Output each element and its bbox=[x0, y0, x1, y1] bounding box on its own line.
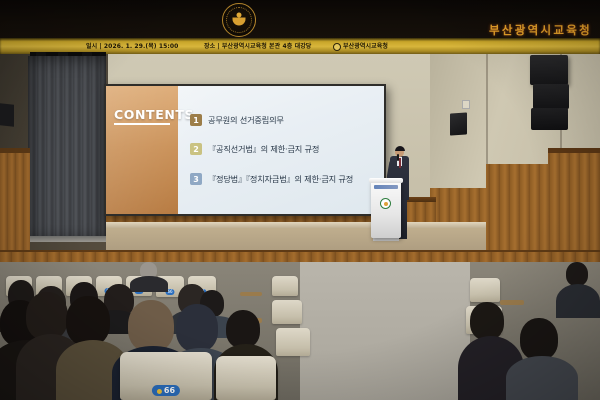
foreground-seat bbox=[216, 356, 276, 400]
projected-slide: CONTENTS 1 공무원의 선거중립의무 2 『공직선거법』의 제한·금지 … bbox=[106, 86, 384, 214]
audience-member bbox=[176, 304, 218, 352]
slide-item-2-number: 2 bbox=[190, 143, 202, 155]
slide-item-3-number: 3 bbox=[190, 173, 202, 185]
foreground-seat-number-tag: 66 bbox=[152, 385, 180, 396]
audience-member bbox=[520, 318, 558, 360]
lectern-logo-icon bbox=[380, 198, 391, 209]
foreground-seat-number: 66 bbox=[164, 386, 175, 395]
presenter-hair bbox=[395, 146, 405, 151]
audience-member bbox=[470, 302, 504, 340]
wall-outlet bbox=[462, 100, 470, 109]
slide-item-2: 2 『공직선거법』의 제한·금지 규정 bbox=[190, 143, 319, 155]
line-array-speaker-mid bbox=[533, 84, 569, 109]
slide-item-3-text: 『정당법』『정치자금법』의 제한·금지 규정 bbox=[208, 173, 353, 185]
audience-member bbox=[26, 292, 68, 340]
seat bbox=[272, 276, 298, 296]
stage-curtain-hem bbox=[28, 236, 106, 242]
slide-sidebar: CONTENTS bbox=[106, 86, 178, 214]
wall-monitor-speaker bbox=[450, 112, 467, 135]
audience-member bbox=[566, 262, 588, 286]
slide-item-1: 1 공무원의 선거중립의무 bbox=[190, 114, 284, 126]
slide-title-underline bbox=[114, 123, 170, 125]
audience-member bbox=[506, 356, 578, 400]
auditorium-photo: 부산광역시교육청 일시 | 2026. 1. 29.(목) 15:00 장소 |… bbox=[0, 0, 600, 400]
seat bbox=[272, 300, 302, 324]
lectern-nameplate bbox=[374, 185, 398, 189]
slide-item-2-text: 『공직선거법』의 제한·금지 규정 bbox=[208, 143, 319, 155]
left-wood-trim bbox=[0, 148, 30, 153]
audience-member bbox=[556, 284, 600, 318]
audience-member bbox=[130, 276, 168, 292]
handheld-microphone-icon bbox=[397, 154, 399, 161]
banner-place-text: 장소 | 부산광역시교육청 본관 4층 대강당 bbox=[204, 41, 311, 50]
left-wall-speaker-icon bbox=[0, 103, 14, 126]
foreground-seat: 66 bbox=[120, 352, 212, 400]
banner-date-text: 일시 | 2026. 1. 29.(목) 15:00 bbox=[86, 41, 178, 50]
stage-curtain bbox=[28, 56, 106, 242]
center-aisle bbox=[300, 262, 470, 400]
lectern-top bbox=[369, 178, 403, 183]
slide-item-3: 3 『정당법』『정치자금법』의 제한·금지 규정 bbox=[190, 173, 353, 185]
backdrop-org-name: 부산광역시교육청 bbox=[489, 22, 592, 38]
banner-host-logo-icon bbox=[333, 43, 341, 51]
slide-item-1-number: 1 bbox=[190, 114, 202, 126]
slide-item-1-text: 공무원의 선거중립의무 bbox=[208, 114, 284, 126]
armrest bbox=[500, 300, 524, 305]
seat bbox=[276, 328, 310, 356]
line-array-speaker-bottom bbox=[531, 108, 568, 130]
busan-education-office-emblem-icon bbox=[222, 3, 256, 37]
left-wood-panel bbox=[0, 152, 30, 252]
audience-member bbox=[128, 300, 174, 352]
line-array-speaker-top bbox=[530, 55, 568, 85]
banner-host-text: 부산광역시교육청 bbox=[343, 41, 388, 50]
seat-tag-dot-icon bbox=[157, 389, 162, 394]
armrest bbox=[240, 292, 262, 296]
seat bbox=[470, 278, 500, 302]
slide-body: 1 공무원의 선거중립의무 2 『공직선거법』의 제한·금지 규정 3 『정당법… bbox=[178, 86, 384, 214]
audience-member bbox=[226, 310, 260, 348]
audience-member bbox=[66, 296, 110, 346]
